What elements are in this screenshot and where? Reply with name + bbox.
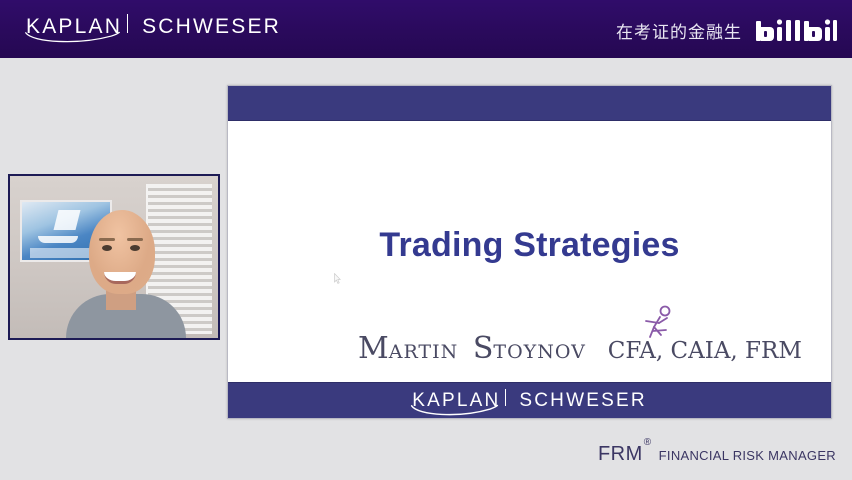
signature-first-rest: ARTIN [389, 341, 459, 363]
presenter-eye-left [102, 245, 112, 251]
logo-swoosh-icon [24, 32, 120, 45]
frm-branding: FRM® FINANCIAL RISK MANAGER [598, 443, 836, 466]
screen-root: KAPLAN SCHWESER 在考证的金融生 [0, 0, 852, 480]
slide-title: Trading Strategies [228, 226, 831, 265]
signature-first-initial: M [358, 331, 389, 366]
channel-name-text: 在考证的金融生 [616, 18, 742, 43]
slide-kaplan-schweser-logo: KAPLAN SCHWESER [412, 389, 647, 412]
painting-shape-boat [38, 236, 78, 243]
signature-credentials: CFA, CAIA, FRM [608, 338, 802, 364]
presenter-brow-left [99, 238, 115, 241]
stick-figure-doodle-icon [640, 304, 676, 348]
painting-shape-sand [30, 248, 98, 258]
slide-logo-kaplan-text: KAPLAN [412, 390, 500, 412]
slide-logo-divider [505, 389, 506, 406]
presentation-slide[interactable]: Trading Strategies MARTIN STOYNOV CFA, C… [227, 85, 832, 419]
kaplan-schweser-logo: KAPLAN SCHWESER [26, 14, 281, 39]
frm-mark-text: FRM® [598, 443, 651, 466]
slide-logo-swoosh-icon [410, 405, 498, 418]
header-right-group: 在考证的金融生 [616, 15, 838, 45]
signature-last-initial: S [473, 331, 494, 366]
presenter-brow-right [127, 238, 143, 241]
painting-shape-sail [54, 210, 81, 230]
slide-top-band [228, 86, 831, 121]
signature-last-rest: TOYNOV [493, 341, 585, 363]
mouse-cursor-icon [334, 273, 341, 284]
logo-schweser-label: SCHWESER [142, 15, 281, 39]
registered-trademark-symbol: ® [644, 437, 652, 448]
slide-content-area: Trading Strategies MARTIN STOYNOV CFA, C… [228, 121, 831, 384]
slide-logo-schweser-label: SCHWESER [519, 390, 646, 412]
logo-kaplan-text: KAPLAN [26, 15, 122, 39]
frm-acronym: FRM [598, 443, 643, 465]
frm-full-label: FINANCIAL RISK MANAGER [659, 448, 836, 463]
presenter-eye-right [130, 245, 140, 251]
bilibili-logo-icon [754, 15, 838, 45]
logo-divider [127, 14, 128, 33]
slide-footer-band: KAPLAN SCHWESER [228, 382, 831, 418]
presenter-webcam[interactable] [8, 174, 220, 340]
handwritten-signature: MARTIN STOYNOV CFA, CAIA, FRM [358, 331, 802, 366]
page-header: KAPLAN SCHWESER 在考证的金融生 [0, 0, 852, 58]
